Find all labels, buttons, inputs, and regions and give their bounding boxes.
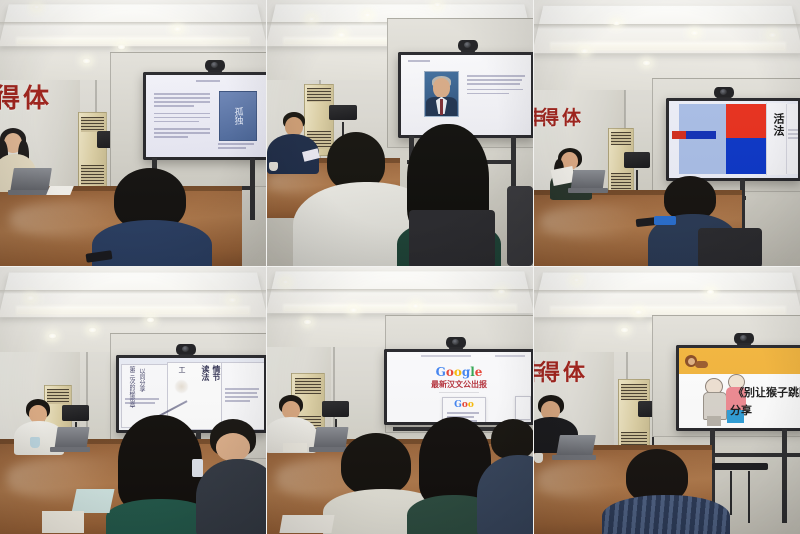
downlight-icon <box>580 48 589 54</box>
audio-speaker <box>62 405 89 421</box>
downlight-icon <box>32 4 41 10</box>
slide-subtitle-text: 分享 <box>679 402 800 418</box>
ceiling-edge <box>0 290 266 294</box>
audio-speaker <box>329 105 357 120</box>
collage-photo-6[interactable]: 得体 丰 <box>534 267 800 534</box>
audio-speaker <box>624 152 650 168</box>
display-board[interactable]: 《别让猴子跳回背上》 分享 <box>676 345 800 431</box>
cover-block-red <box>726 104 766 138</box>
slide-body-lines <box>154 93 210 140</box>
ceiling-edge <box>0 22 266 26</box>
downlight-icon <box>642 60 651 66</box>
document-vertical-text: 工 <box>177 366 187 373</box>
display-screen[interactable]: 活法 <box>669 101 798 178</box>
cover-strip-blue <box>686 131 716 139</box>
collage-photo-3[interactable]: 得体 丰 <box>534 0 800 266</box>
ceiling-edge <box>267 289 533 293</box>
portrait-face <box>433 78 450 97</box>
downlight-icon <box>281 279 290 285</box>
downlight-icon <box>572 277 581 283</box>
downlight-icon <box>349 307 358 313</box>
person-attendee-striped <box>608 449 724 534</box>
slide-content-6: 《别让猴子跳回背上》 分享 <box>679 348 800 428</box>
downlight-icon <box>117 44 126 50</box>
ac-vent <box>81 117 104 132</box>
laptop-keyboard <box>568 188 608 193</box>
downlight-icon <box>48 333 57 339</box>
document-body-lines <box>225 388 261 404</box>
display-screen[interactable]: Google 最新汉文公出报 —————————— Goo <box>387 352 531 422</box>
downlight-icon <box>706 289 715 295</box>
laptop-screen <box>54 427 89 449</box>
downlight-icon <box>337 32 346 38</box>
downlight-icon <box>690 30 699 36</box>
google-card-logo-icon: Goo <box>443 400 485 410</box>
torso <box>602 495 730 534</box>
slide-title-text: 《别让猴子跳回背上》 <box>733 384 800 400</box>
laptop-screen <box>571 170 606 190</box>
slide-content-5: Google 最新汉文公出报 —————————— Goo <box>387 352 531 422</box>
display-screen[interactable]: 《别让猴子跳回背上》 分享 <box>679 348 800 428</box>
cup <box>30 437 40 448</box>
hair <box>341 433 411 495</box>
display-board[interactable]: 孤独 <box>143 72 266 160</box>
wall-slogan-text: 得体 <box>0 78 52 115</box>
chair <box>507 186 533 266</box>
cup <box>269 162 278 171</box>
paper-sheet <box>283 443 307 452</box>
slide-content-2 <box>401 55 531 135</box>
smartphone-icon <box>654 216 676 225</box>
cover-title-text: 活法 <box>770 113 786 137</box>
display-board[interactable]: Google 最新汉文公出报 —————————— Goo <box>384 349 533 425</box>
tissue-box <box>42 511 84 533</box>
downlight-icon <box>768 32 777 38</box>
downlight-icon <box>82 58 91 64</box>
wall-slogan-partial: 丰 <box>534 355 547 387</box>
audio-speaker <box>322 401 349 417</box>
video-camera-icon <box>446 337 466 348</box>
ceiling <box>534 0 800 90</box>
collage-photo-5[interactable]: Google 最新汉文公出报 —————————— Goo <box>267 267 533 534</box>
display-stand-leg <box>782 429 787 523</box>
cover-block-blue <box>726 138 766 174</box>
ceiling-cove-light <box>550 306 786 315</box>
video-camera-icon <box>205 60 225 71</box>
conference-room-scene-1: 得体 <box>0 0 266 266</box>
ac-vent <box>621 384 646 400</box>
cover-block-light-blue <box>679 104 726 174</box>
slide-caption-lines <box>218 143 258 151</box>
laptop-keyboard <box>552 455 596 460</box>
document-vertical-text: 情节 <box>212 365 223 381</box>
ceiling-edge <box>534 290 800 294</box>
portrait-tie <box>440 99 443 115</box>
conference-room-scene-6: 得体 丰 <box>534 267 800 534</box>
chair <box>698 228 762 266</box>
ac-vent <box>295 378 322 394</box>
video-camera-icon <box>714 87 734 98</box>
laptop-screen <box>10 168 52 192</box>
long-hair <box>118 415 202 511</box>
ac-vent <box>307 88 331 102</box>
notebook <box>71 489 114 513</box>
cable <box>748 471 750 523</box>
smartphone-icon <box>192 459 203 477</box>
downlight-icon <box>146 317 155 323</box>
torso <box>196 459 266 534</box>
downlight-icon <box>411 303 420 309</box>
document-vertical-text: 以同分享 <box>137 368 146 392</box>
slide-book-cover: 孤独 <box>219 91 257 141</box>
conference-room-scene-3: 得体 丰 <box>534 0 800 266</box>
torso <box>477 455 533 534</box>
photo-collage: 得体 <box>0 0 800 533</box>
downlight-icon <box>228 297 237 303</box>
cover-strip-red <box>672 131 686 139</box>
collage-photo-4[interactable]: 第三次的秘密章 以同分享 工 读法 情节 <box>0 267 266 534</box>
video-camera-icon <box>176 344 196 355</box>
person-attendee-front <box>96 168 206 266</box>
ceiling-cove-light <box>16 37 250 45</box>
collage-photo-1[interactable]: 得体 <box>0 0 266 266</box>
laptop-screen <box>556 435 596 457</box>
video-camera-icon <box>734 333 754 344</box>
display-screen[interactable]: 孤独 <box>146 75 266 157</box>
notebook <box>279 515 334 533</box>
display-board[interactable]: 活法 <box>666 98 800 181</box>
downlight-icon <box>173 26 182 32</box>
browser-toolbar-lines <box>495 355 525 359</box>
hair <box>491 419 533 459</box>
chair <box>409 210 495 266</box>
cup <box>534 453 543 463</box>
video-camera-icon <box>458 40 478 51</box>
browser-toolbar-lines <box>421 355 471 359</box>
person-man-glasses <box>202 419 266 534</box>
paper-sheet <box>46 186 74 195</box>
slide-content-1: 孤独 <box>146 75 266 157</box>
downlight-icon <box>307 16 316 22</box>
wall-slogan-partial: 丰 <box>534 103 548 130</box>
ceiling-edge <box>534 24 800 29</box>
downlight-icon <box>363 12 372 18</box>
document-body-lines <box>125 398 163 406</box>
person-illustration-secondary <box>723 374 749 426</box>
downlight-icon <box>497 289 506 295</box>
downlight-icon <box>433 2 442 8</box>
ceiling-cove-light <box>16 306 250 315</box>
laser-pointer-tip <box>175 380 188 393</box>
downlight-icon <box>26 295 35 301</box>
slide-portrait-image <box>424 71 459 117</box>
document-vertical-text: 读法 <box>201 365 212 381</box>
downlight-icon <box>634 309 643 315</box>
downlight-icon <box>303 319 312 325</box>
conference-room-scene-5: Google 最新汉文公出报 —————————— Goo <box>267 267 533 534</box>
slide-content-3: 活法 <box>669 101 798 178</box>
downlight-icon <box>620 327 629 333</box>
ac-vent <box>611 132 631 145</box>
cable <box>730 471 732 515</box>
head <box>216 433 250 461</box>
person-attendee-right <box>485 419 533 534</box>
laptop-keyboard <box>50 447 90 452</box>
slide-caption: —————————— <box>387 389 531 394</box>
downlight-icon <box>612 20 621 26</box>
monkey-illustration-icon <box>683 352 709 372</box>
google-logo-icon: Google <box>387 365 531 379</box>
slide-title-lines <box>408 60 430 64</box>
conference-room-scene-4: 第三次的秘密章 以同分享 工 读法 情节 <box>0 267 266 534</box>
side-thumbnail <box>515 396 531 420</box>
display-screen[interactable] <box>401 55 531 135</box>
slide-header-lines <box>196 80 256 84</box>
cover-back-lines <box>788 129 798 141</box>
conference-room-scene-2 <box>267 0 533 266</box>
ceiling-cove-light <box>283 304 517 312</box>
slide-body-lines <box>467 75 527 97</box>
collage-photo-2[interactable] <box>267 0 533 266</box>
downlight-icon <box>88 327 97 333</box>
